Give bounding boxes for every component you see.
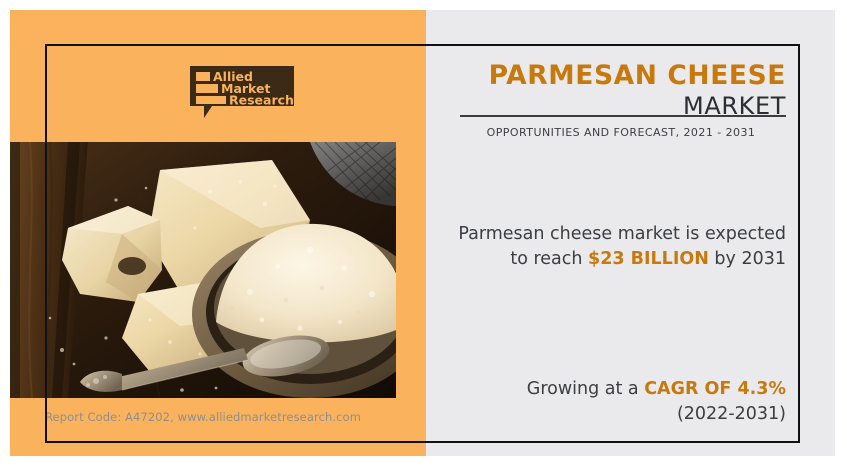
report-code-text: Report Code: A47202, www.alliedmarketres… (10, 410, 396, 424)
left-column: Allied Market Research (10, 44, 426, 443)
infographic-card: Allied Market Research (0, 0, 847, 470)
right-column: PARMESAN CHEESE MARKET OPPORTUNITIES AND… (426, 44, 800, 443)
forecast-tagline: OPPORTUNITIES AND FORECAST, 2021 - 2031 (456, 126, 786, 139)
cagr-prefix: Growing at a (527, 379, 644, 399)
cagr-statement: Growing at a CAGR OF 4.3% (2022-2031) (444, 377, 786, 427)
market-value-suffix: by 2031 (709, 249, 786, 269)
allied-market-research-logo[interactable]: Allied Market Research (186, 62, 298, 120)
parmesan-cheese-photo (10, 142, 396, 398)
title-divider (460, 115, 786, 117)
market-value-highlight: $23 BILLION (588, 249, 709, 269)
title-block: PARMESAN CHEESE MARKET (456, 61, 786, 120)
photo-illustration (10, 142, 396, 398)
logo-line-3: Research (229, 93, 294, 108)
cagr-highlight: CAGR OF 4.3% (644, 379, 786, 399)
logo-mark-icon: Allied Market Research (186, 62, 298, 120)
page-title: PARMESAN CHEESE (456, 61, 786, 91)
cagr-period: (2022-2031) (677, 404, 786, 424)
market-value-statement: Parmesan cheese market is expected to re… (444, 222, 786, 272)
